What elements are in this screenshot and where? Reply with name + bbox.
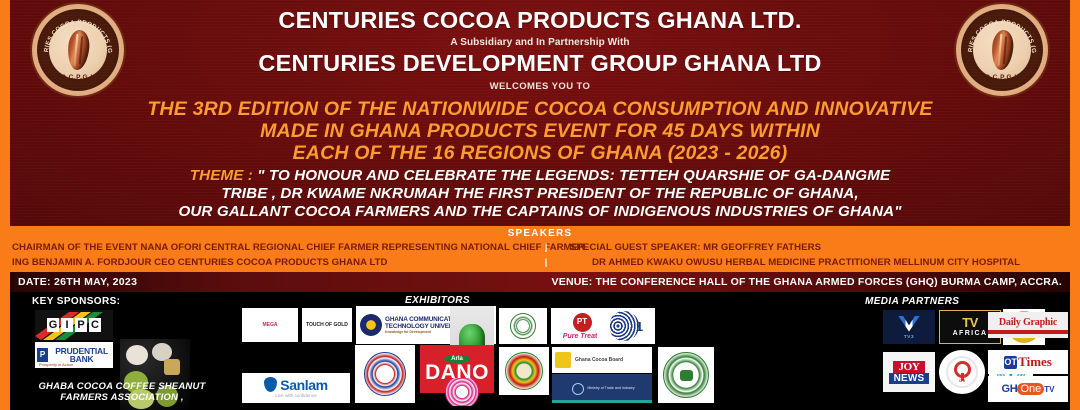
media-logo-ot-times: OT Times — [988, 350, 1068, 374]
media-logo-tv3: TV3 — [883, 310, 935, 344]
speakers-heading: SPEAKERS — [0, 226, 1080, 240]
seal-abbreviation: C.C.P.G.L — [32, 74, 124, 81]
prudential-mark-icon: P — [37, 348, 48, 362]
ministry-mark-icon — [572, 383, 584, 395]
speaker-doctor: DR AHMED KWAKU OWUSU HERBAL MEDICINE PRA… — [552, 255, 1080, 270]
gs1-barcode-circle-icon — [609, 311, 639, 341]
event-title: THE 3RD EDITION OF THE NATIONWIDE COCOA … — [50, 99, 1030, 164]
sanlam-lockup: Sanlam — [264, 377, 327, 392]
tv3-label: TV3 — [904, 334, 914, 339]
date-venue-bar: DATE: 26TH MAY, 2023 VENUE: THE CONFEREN… — [10, 272, 1070, 292]
speaker-chairman: CHAIRMAN OF THE EVENT NANA OFORI CENTRAL… — [0, 240, 540, 255]
media-logo-ghone-tv: GH One TV — [988, 376, 1068, 402]
event-date: DATE: 26TH MAY, 2023 — [10, 276, 137, 288]
theme-line-3: OUR GALLANT COCOA FARMERS AND THE CAPTAI… — [36, 203, 1044, 221]
event-venue: VENUE: THE CONFERENCE HALL OF THE GHANA … — [552, 276, 1070, 288]
gipc-letter: P — [75, 318, 87, 332]
company-secondary-name: CENTURIES DEVELOPMENT GROUP GHANA LTD — [140, 51, 940, 77]
company-seal-logo-left: CENTURIES COCOA PRODUCTS (GH) LTD C.C.P.… — [32, 4, 124, 96]
theme-label: THEME : — [190, 167, 257, 184]
tv-africa-sublabel: AFRICA — [953, 330, 988, 337]
exhibitor-logo-ministry: Ministry of Trade and Industry — [552, 374, 652, 403]
cocoa-board-mark-icon — [555, 352, 571, 368]
sponsor-logo-prudential-bank: P PRUDENTIAL BANK Prosperity in Action — [35, 342, 113, 368]
ghone-label: GH — [1002, 383, 1018, 395]
speaker-separator: | — [540, 240, 552, 255]
company-seal-logo-right: CENTURIES COCOA PRODUCTS (GH) LTD C.C.P.… — [956, 4, 1048, 96]
exhibitor-logo-2: TOUCH OF GOLD — [302, 308, 352, 342]
ot-times-mark-icon: OT — [1004, 356, 1017, 369]
seal-arc-text: CENTURIES COCOA PRODUCTS (GH) LTD — [956, 4, 1048, 96]
event-title-line-2: MADE IN GHANA PRODUCTS EVENT FOR 45 DAYS… — [50, 121, 1030, 143]
daily-graphic-underline — [988, 330, 1068, 334]
exhibitor-1-label: MEGA — [262, 322, 279, 329]
ghone-one-label: One — [1017, 383, 1044, 395]
exhibitors-heading: EXHIBITORS — [405, 295, 470, 306]
exhibitor-logo-1: MEGA — [242, 308, 298, 342]
exhibitor-logo-good-for-health — [658, 347, 714, 403]
pink-seal-icon — [445, 378, 479, 406]
subsidiary-line: A Subsidiary and In Partnership With — [140, 37, 940, 48]
welcomes-line: WELCOMES YOU TO — [140, 81, 940, 92]
exhibitor-logo-sanlam: Sanlam Live with confidence — [242, 373, 350, 403]
sanlam-label: Sanlam — [280, 378, 327, 392]
speaker-row: ING BENJAMIN A. FORDJOUR CEO CENTURIES C… — [0, 255, 1080, 270]
seal-arc-label: CENTURIES COCOA PRODUCTS (GH) LTD — [956, 4, 1037, 54]
citi-ring-icon: CITI — [946, 356, 978, 388]
ghana-crest-seal-icon — [505, 352, 543, 390]
prudential-label: PRUDENTIAL BANK — [50, 347, 113, 364]
media-logo-citi: CITI — [939, 350, 985, 394]
crest-seal-icon — [364, 352, 406, 396]
ministry-accent-bar — [552, 400, 652, 403]
joy-label: JOY — [893, 361, 924, 373]
svg-text:CENTURIES COCOA PRODUCTS (GH): CENTURIES COCOA PRODUCTS (GH) LTD — [956, 4, 1037, 54]
sanlam-tagline: Live with confidence — [275, 394, 316, 399]
gipc-letter: C — [89, 318, 101, 332]
ministry-label: Ministry of Trade and Industry — [587, 386, 634, 390]
speakers-band: SPEAKERS CHAIRMAN OF THE EVENT NANA OFOR… — [0, 226, 1080, 272]
media-partners-heading: MEDIA PARTNERS — [865, 296, 959, 307]
gctu-seal-icon — [360, 314, 382, 336]
pure-treats-mark-icon: PT — [573, 313, 592, 332]
exhibitor-logo-gs1: 1 — [597, 308, 655, 344]
tv3-mark-icon — [898, 316, 920, 332]
exhibitor-logo-green-wreath — [499, 308, 547, 344]
company-primary-name: CENTURIES COCOA PRODUCTS GHANA LTD. — [140, 8, 940, 34]
exhibitor-2-label: TOUCH OF GOLD — [305, 322, 349, 329]
sponsor-association-caption: GHABA COCOA COFFEE SHEANUT FARMERS ASSOC… — [16, 382, 228, 403]
green-wreath-seal-icon — [510, 313, 536, 339]
tv-africa-label: TV — [962, 317, 978, 329]
good-for-health-seal-icon — [663, 352, 709, 398]
top-panel: CENTURIES COCOA PRODUCTS (GH) LTD C.C.P.… — [10, 0, 1070, 226]
svg-text:CENTURIES COCOA PRODUCTS (GH): CENTURIES COCOA PRODUCTS (GH) LTD — [32, 4, 113, 54]
speaker-special-guest: SPECIAL GUEST SPEAKER: MR GEOFFREY FATHE… — [552, 240, 1080, 255]
speaker-separator: | — [540, 255, 552, 270]
sanlam-mark-icon — [264, 377, 277, 392]
theme-text-1: " TO HONOUR AND CELEBRATE THE LEGENDS: T… — [257, 167, 890, 184]
exhibitor-logo-crest — [355, 345, 415, 403]
event-title-line-3: EACH OF THE 16 REGIONS OF GHANA (2023 - … — [50, 143, 1030, 165]
speaker-ceo: ING BENJAMIN A. FORDJOUR CEO CENTURIES C… — [0, 255, 540, 270]
daily-graphic-label: Daily Graphic — [999, 317, 1057, 328]
media-logo-joy-news: JOY NEWS — [883, 352, 935, 392]
seal-abbreviation: C.C.P.G.L — [956, 74, 1048, 81]
theme-line-1: THEME : " TO HONOUR AND CELEBRATE THE LE… — [36, 167, 1044, 185]
exhibitor-logo-pink-seal — [440, 378, 484, 406]
seal-arc-label: CENTURIES COCOA PRODUCTS (GH) LTD — [32, 4, 113, 54]
sponsor-logo-gipc: G I P C — [35, 310, 113, 340]
partners-panel: KEY SPONSORS: EXHIBITORS MEDIA PARTNERS … — [10, 292, 1070, 410]
seal-arc-text: CENTURIES COCOA PRODUCTS (GH) LTD — [32, 4, 124, 96]
joy-news-label: NEWS — [889, 373, 930, 384]
speaker-row: CHAIRMAN OF THE EVENT NANA OFORI CENTRAL… — [0, 240, 1080, 255]
exhibitor-logo-ghana-crest — [499, 347, 549, 395]
gs1-label: 1 — [636, 320, 643, 333]
theme-block: THEME : " TO HONOUR AND CELEBRATE THE LE… — [36, 167, 1044, 222]
gipc-letter: G — [47, 318, 59, 332]
gipc-letter: I — [61, 318, 73, 332]
cocoa-board-label: Ghana Cocoa Board — [574, 357, 624, 364]
key-sponsors-heading: KEY SPONSORS: — [32, 296, 120, 307]
citi-dot-icon — [954, 361, 971, 378]
pure-treats-label: Pure Treats — [563, 333, 601, 340]
prudential-tagline: Prosperity in Action — [39, 363, 73, 367]
event-title-line-1: THE 3RD EDITION OF THE NATIONWIDE COCOA … — [50, 99, 1030, 121]
header-text-block: CENTURIES COCOA PRODUCTS GHANA LTD. A Su… — [140, 8, 940, 92]
ghone-tv-label: TV — [1044, 385, 1054, 394]
association-line-2: FARMERS ASSOCIATION , — [16, 393, 228, 404]
exhibitor-logo-cocoa-board: Ghana Cocoa Board — [552, 347, 652, 373]
gipc-letters: G I P C — [47, 318, 101, 332]
theme-line-2: TRIBE , DR KWAME NKRUMAH THE FIRST PRESI… — [36, 185, 1044, 203]
ot-times-label: Times — [1018, 354, 1052, 370]
media-logo-daily-graphic: Daily Graphic — [988, 312, 1068, 338]
event-banner: CENTURIES COCOA PRODUCTS (GH) LTD C.C.P.… — [0, 0, 1080, 410]
